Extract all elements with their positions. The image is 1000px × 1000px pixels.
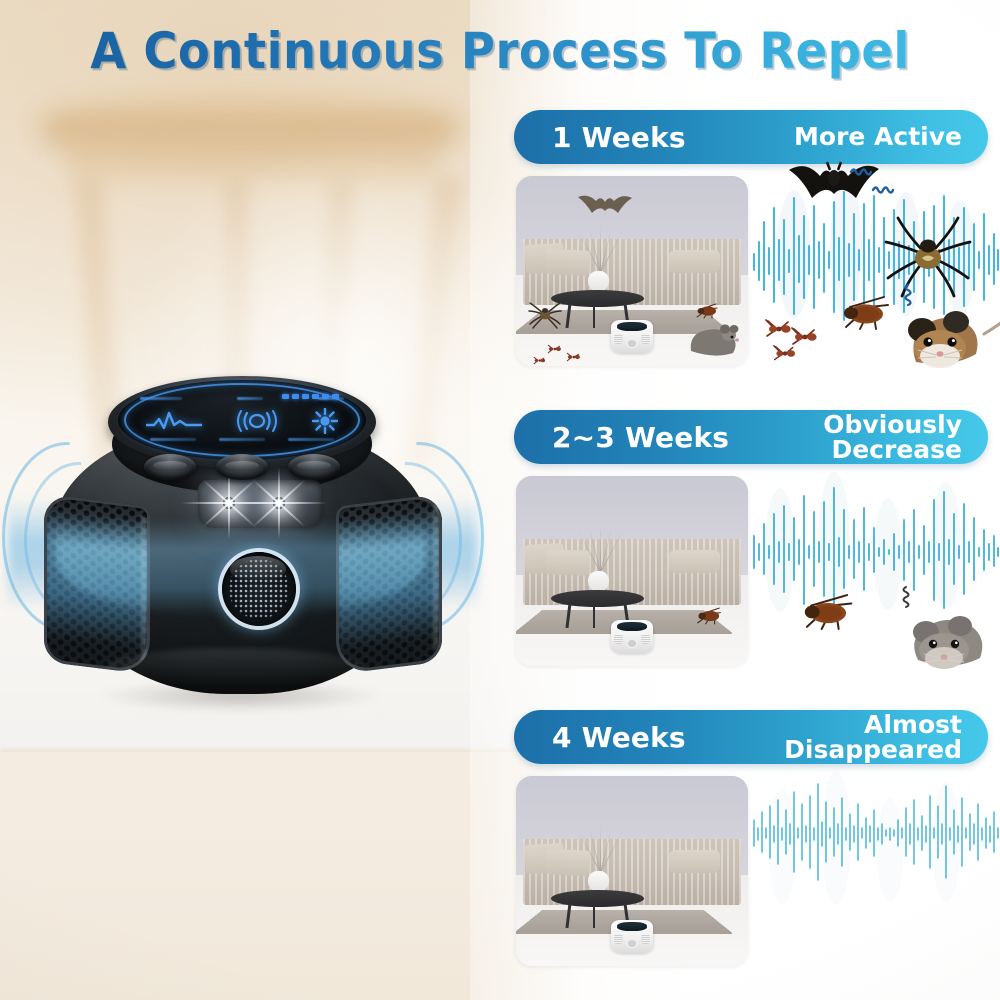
scene-cushion — [669, 550, 720, 573]
banner-status-label: Almost Disappeared — [784, 712, 962, 763]
led-lamp — [270, 494, 288, 512]
timeline-banner-3: 4 Weeks Almost Disappeared — [514, 710, 988, 764]
panel-label-line — [288, 438, 334, 441]
control-panel — [134, 388, 350, 452]
pest-spider — [528, 301, 562, 329]
waveform-graph-3 — [750, 762, 1000, 974]
scene-repeller-device — [611, 920, 653, 952]
mode-button-ultrasonic[interactable] — [144, 454, 196, 480]
pest-rat — [898, 598, 1000, 674]
pest-bat — [576, 191, 634, 217]
scene-photo-1 — [516, 176, 748, 366]
pest-ant — [546, 343, 562, 355]
scene-table-leg — [593, 303, 596, 328]
status-led — [332, 394, 339, 399]
scene-device-grill — [614, 634, 623, 644]
scene-vase — [588, 571, 609, 592]
panel-label-line — [140, 397, 182, 400]
banner-weeks-label: 4 Weeks — [552, 721, 686, 754]
sound-squiggle-icon — [872, 184, 894, 196]
status-led — [292, 394, 299, 399]
mode-button-pulse[interactable] — [216, 454, 268, 480]
led-lamp-housing — [198, 480, 322, 528]
panel-label-line — [237, 397, 263, 400]
infographic-canvas: A Continuous Process To Repel A Continuo… — [0, 0, 1000, 1000]
scene-device-grill — [641, 634, 650, 644]
status-led — [312, 394, 319, 399]
scene-branch-decor — [574, 225, 625, 273]
scene-branch-decor — [574, 825, 625, 873]
waveform-panel-1 — [750, 162, 1000, 374]
timeline-banner-1: 1 Weeks More Active — [514, 110, 988, 164]
scene-device-grill — [641, 934, 650, 944]
scene-branch-decor — [574, 525, 625, 573]
status-led — [282, 394, 289, 399]
panel-label-line — [219, 438, 265, 441]
led-light-icon — [312, 408, 338, 434]
grill-highlight — [431, 504, 438, 649]
pest-mouse — [892, 292, 1000, 372]
scene-table-leg — [593, 903, 596, 928]
pest-ant — [532, 355, 546, 366]
panel-icon-row — [134, 408, 350, 434]
scene-coffee-table — [551, 290, 644, 307]
status-led — [302, 394, 309, 399]
pest-rat — [685, 319, 741, 359]
scene-vase — [588, 271, 609, 292]
control-button-row — [134, 450, 350, 484]
pest-cockroach — [832, 296, 898, 330]
scene-device-grill — [641, 334, 650, 344]
scene-photo-3 — [516, 776, 748, 966]
scene-cushion — [669, 250, 720, 273]
banner-weeks-label: 2~3 Weeks — [552, 421, 729, 454]
pest-cockroach — [692, 607, 726, 625]
banner-status-label: Obviously Decrease — [823, 412, 962, 463]
scene-photo-2 — [516, 476, 748, 666]
pest-ant — [772, 344, 798, 363]
scene-cushion — [669, 850, 720, 873]
status-led-row — [282, 392, 340, 400]
waveform-panel-3 — [750, 762, 1000, 974]
scene-device-grill — [614, 334, 623, 344]
waveform-panel-2 — [750, 462, 1000, 674]
pest-cockroach — [692, 303, 722, 319]
panel-bottom-labels — [138, 434, 346, 444]
pest-cockroach — [792, 594, 862, 630]
lamp-core — [273, 497, 285, 509]
banner-weeks-label: 1 Weeks — [552, 121, 686, 154]
scene-repeller-device — [611, 620, 653, 652]
front-speaker — [222, 552, 296, 626]
status-led — [322, 394, 329, 399]
mode-button-light[interactable] — [288, 454, 340, 480]
scene-vase — [588, 871, 609, 892]
scene-device-grill — [614, 934, 623, 944]
page-title: A Continuous Process To Repel — [35, 22, 965, 80]
scene-coffee-table — [551, 890, 644, 907]
timeline-banner-2: 2~3 Weeks Obviously Decrease — [514, 410, 988, 464]
scene-table-leg — [593, 603, 596, 628]
timeline-column: 1 Weeks More Active — [500, 104, 1000, 992]
scene-repeller-device — [611, 320, 653, 352]
sound-pulse-icon — [227, 410, 287, 432]
sound-squiggle-icon — [850, 166, 872, 178]
banner-status-label: More Active — [794, 124, 962, 150]
ultrasonic-wave-icon — [146, 410, 202, 432]
front-speaker-gloss — [230, 556, 286, 582]
scene-coffee-table — [551, 590, 644, 607]
pest-ant — [565, 351, 581, 363]
pest-spider — [880, 212, 976, 298]
panel-label-line — [150, 438, 196, 441]
device-base-shine — [104, 648, 364, 688]
product-device — [8, 330, 478, 730]
